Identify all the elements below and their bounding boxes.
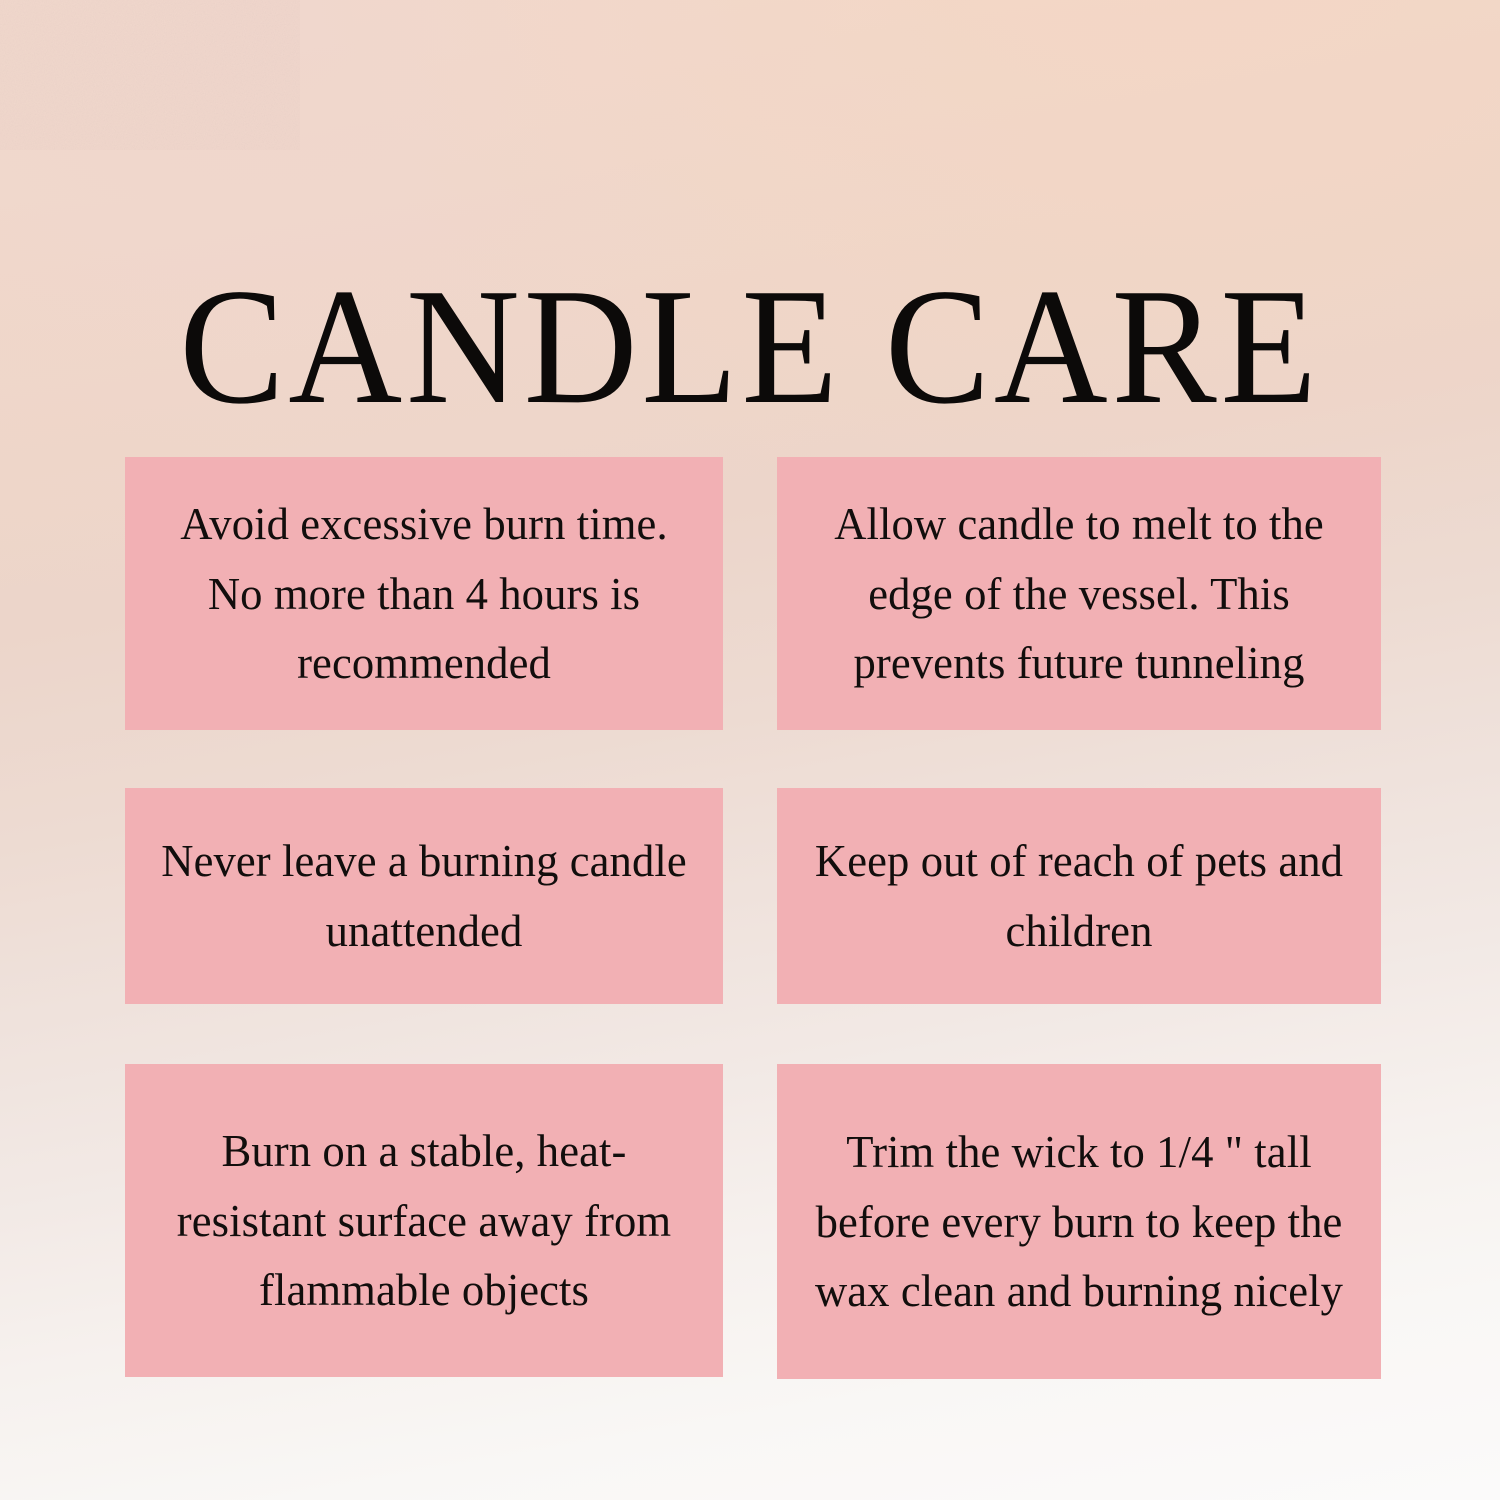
tip-card-text: Trim the wick to 1/4 " tall before every… [811,1117,1346,1327]
candle-care-poster: CANDLE CARE Avoid excessive burn time. N… [0,0,1500,1500]
tip-card-trim-wick: Trim the wick to 1/4 " tall before every… [777,1064,1381,1379]
tip-card-text: Burn on a stable, heat-resistant surface… [159,1116,689,1326]
tip-card-melt-to-edge: Allow candle to melt to the edge of the … [777,457,1381,730]
tip-card-out-of-reach: Keep out of reach of pets and children [777,788,1381,1004]
tips-row-1: Avoid excessive burn time. No more than … [125,457,1381,730]
tips-row-2: Never leave a burning candle unattended … [125,788,1381,1004]
page-title: CANDLE CARE [38,263,1463,429]
paper-grain-texture [0,0,300,150]
tips-grid: Avoid excessive burn time. No more than … [125,457,1381,1379]
tips-row-3: Burn on a stable, heat-resistant surface… [125,1064,1381,1379]
tip-card-text: Avoid excessive burn time. No more than … [159,489,689,699]
tip-card-never-unattended: Never leave a burning candle unattended [125,788,723,1004]
tip-card-text: Never leave a burning candle unattended [159,826,689,966]
tip-card-text: Keep out of reach of pets and children [811,826,1346,966]
tip-card-text: Allow candle to melt to the edge of the … [811,489,1346,699]
tip-card-stable-surface: Burn on a stable, heat-resistant surface… [125,1064,723,1377]
tip-card-burn-time: Avoid excessive burn time. No more than … [125,457,723,730]
